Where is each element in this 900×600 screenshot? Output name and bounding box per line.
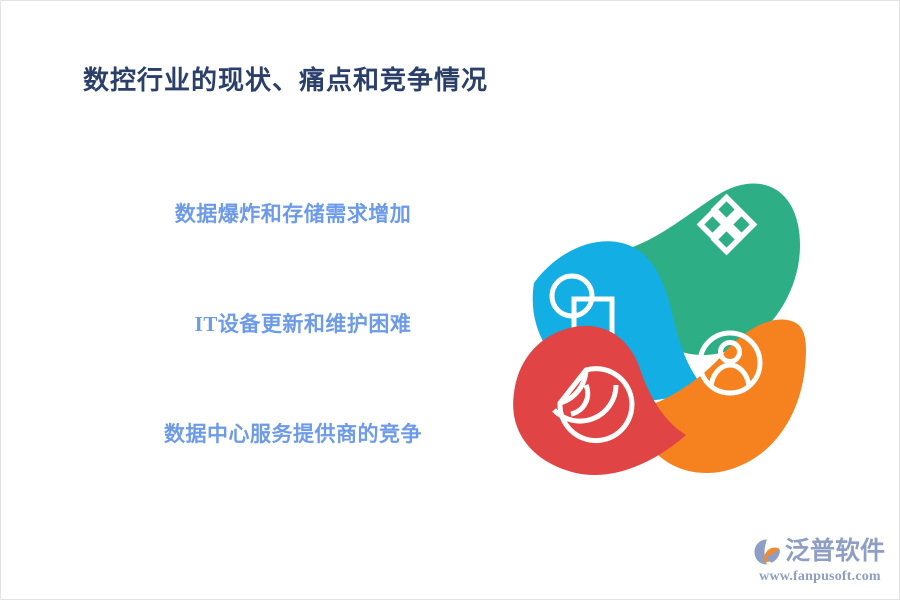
list-item: IT设备更新和维护困难 [1, 309, 501, 419]
brand-name: 泛普软件 [785, 538, 885, 566]
brand-url: www.fanpusoft.com [753, 568, 887, 585]
brand-logo: 泛普软件 www.fanpusoft.com [753, 535, 887, 587]
list-item: 数据爆炸和存储需求增加 [1, 199, 501, 309]
slide-canvas: 数控行业的现状、痛点和竞争情况 数据爆炸和存储需求增加 IT设备更新和维护困难 … [0, 0, 900, 600]
bullet-label-3: 数据中心服务提供商的竞争 [164, 419, 422, 449]
page-title: 数控行业的现状、痛点和竞争情况 [83, 64, 488, 98]
logo-row: 泛普软件 [753, 535, 887, 569]
bullet-label-2: IT设备更新和维护困难 [195, 309, 412, 339]
four-petal-graphic [506, 173, 806, 503]
list-item: 数据中心服务提供商的竞争 [1, 419, 501, 529]
bullet-label-1: 数据爆炸和存储需求增加 [175, 199, 412, 229]
fanpu-logo-mark-icon [753, 538, 781, 566]
bullet-list: 数据爆炸和存储需求增加 IT设备更新和维护困难 数据中心服务提供商的竞争 [1, 199, 501, 529]
